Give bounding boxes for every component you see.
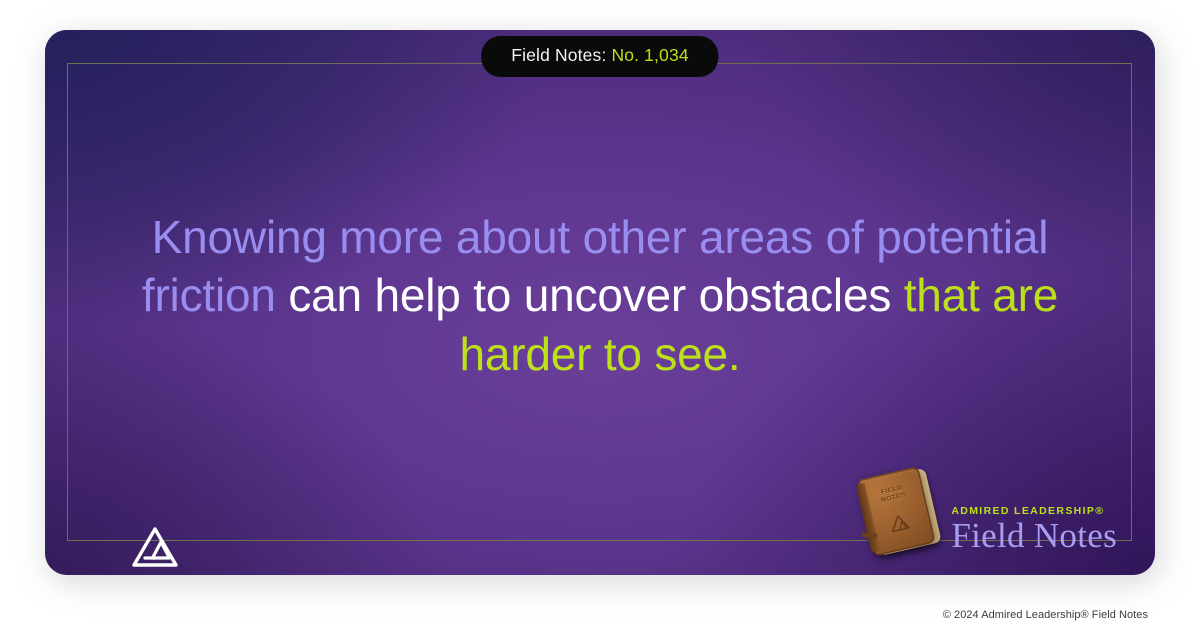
- quote-text: Knowing more about other areas of potent…: [45, 208, 1155, 383]
- badge-label: Field Notes:: [511, 45, 606, 65]
- field-notes-number-badge: Field Notes: No. 1,034: [481, 36, 718, 77]
- badge-number: No. 1,034: [611, 45, 688, 65]
- brand-wordmark: ADMIRED LEADERSHIP® Field Notes: [951, 505, 1117, 557]
- field-notes-card: Knowing more about other areas of potent…: [45, 30, 1155, 575]
- quote-segment-white: can help to uncover obstacles: [288, 269, 903, 321]
- notebook-strap: [862, 532, 878, 538]
- copyright-text: © 2024 Admired Leadership® Field Notes: [943, 609, 1148, 621]
- brand-lockup: FIELD NOTES ADMIRED LEADERSHIP® Field No…: [863, 469, 1117, 557]
- field-notes-notebook-icon: FIELD NOTES: [855, 461, 950, 562]
- notebook-cover-title: FIELD NOTES: [861, 480, 925, 510]
- notebook-triangle-icon: [888, 512, 912, 534]
- admired-leadership-logo-icon: [131, 526, 179, 568]
- brand-title: Field Notes: [951, 518, 1117, 553]
- screenshot-canvas: Knowing more about other areas of potent…: [0, 0, 1200, 628]
